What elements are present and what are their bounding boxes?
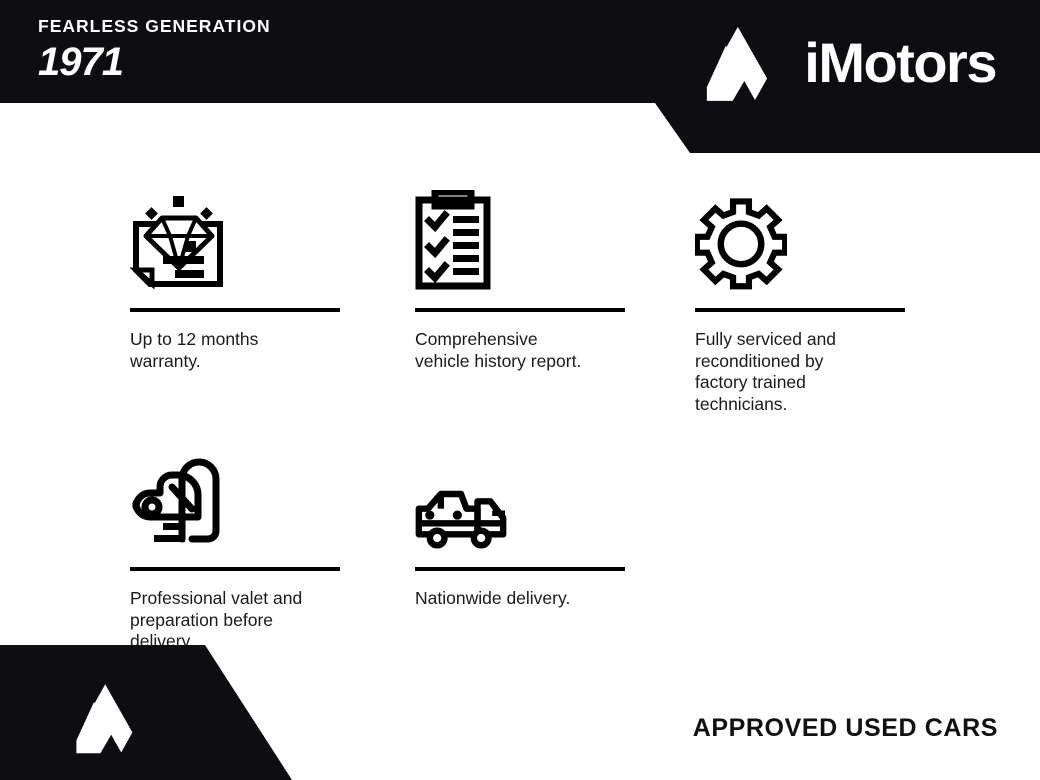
promo-banner: FEARLESS GENERATION 1971 iMotors [0,0,1040,780]
feature-text: Nationwide delivery. [415,588,625,610]
imotors-chevron-logo-icon [700,20,786,106]
feature-item-delivery: Nationwide delivery. [415,439,625,653]
gear-cog-icon [695,196,787,290]
feature-icon-wrap [130,439,340,549]
footer-title: APPROVED USED CARS [693,716,998,741]
feature-divider [130,567,340,571]
footer-shape [0,645,300,780]
feature-item-serviced: Fully serviced and reconditioned by fact… [695,180,905,415]
feature-item-valet: Professional valet and preparation befor… [130,439,340,653]
feature-icon-wrap [130,180,340,290]
feature-divider [130,308,340,312]
feature-text: Comprehensive vehicle history report. [415,329,625,372]
header-bar: FEARLESS GENERATION 1971 iMotors [0,0,1040,155]
feature-text: Professional valet and preparation befor… [130,588,340,653]
car-transporter-truck-icon [415,483,507,549]
feature-item-history-report: Comprehensive vehicle history report. [415,180,625,415]
feature-text: Fully serviced and reconditioned by fact… [695,329,905,415]
feature-grid: Up to 12 months warranty. [130,180,920,653]
feature-text: Up to 12 months warranty. [130,329,340,372]
vacuum-cleaner-icon [130,445,222,549]
warranty-certificate-diamond-icon [130,190,226,290]
brand-year: 1971 [38,42,271,82]
imotors-wordmark: iMotors [804,35,996,91]
brand-tagline: FEARLESS GENERATION [38,18,271,36]
clipboard-checklist-icon [415,190,491,290]
feature-icon-wrap [415,439,625,549]
footer-imotors-chevron-logo-icon [70,678,150,758]
fearless-generation-brand-block: FEARLESS GENERATION 1971 [38,18,271,82]
feature-item-warranty: Up to 12 months warranty. [130,180,340,415]
feature-divider [695,308,905,312]
feature-divider [415,308,625,312]
feature-divider [415,567,625,571]
feature-icon-wrap [695,180,905,290]
feature-icon-wrap [415,180,625,290]
imotors-logo-lockup[interactable]: iMotors [700,20,996,106]
